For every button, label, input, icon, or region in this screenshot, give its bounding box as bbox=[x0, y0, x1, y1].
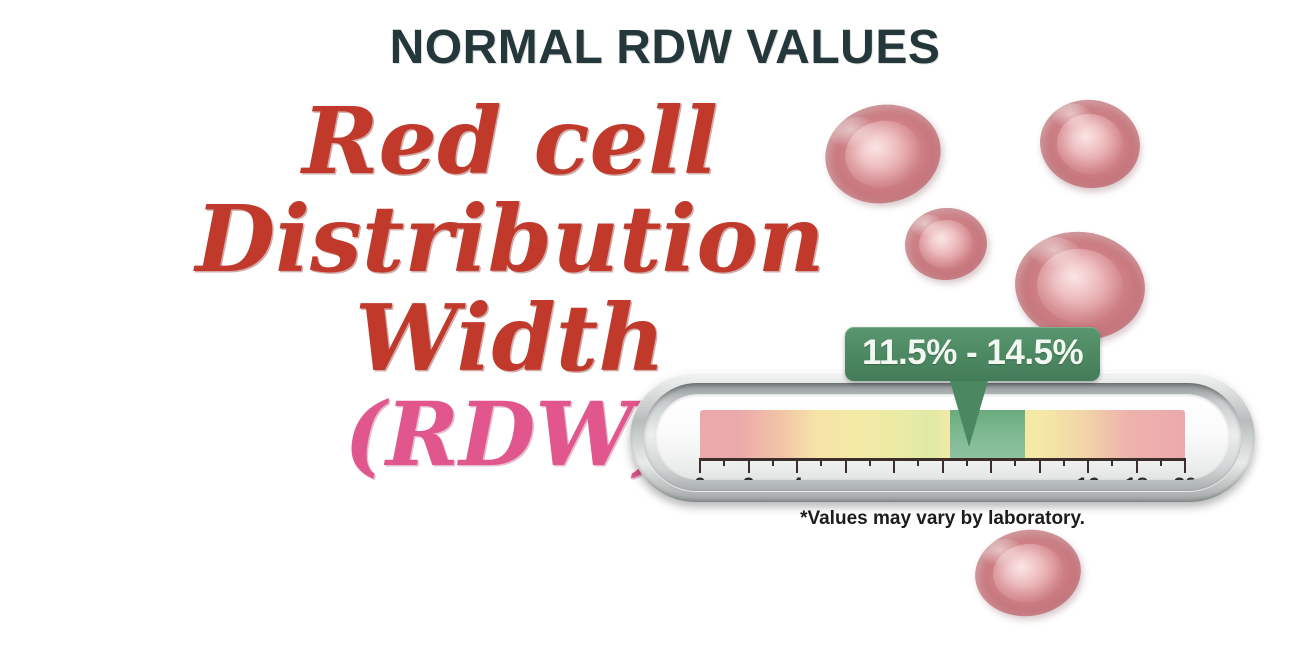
callout-pointer-icon bbox=[950, 381, 988, 447]
gauge-minor-tick bbox=[820, 458, 822, 466]
gauge-minor-tick bbox=[966, 458, 968, 466]
gauge-tick-label: 4 bbox=[791, 474, 803, 480]
gauge-major-tick bbox=[748, 458, 750, 473]
gauge-major-tick bbox=[1184, 458, 1186, 473]
gauge-minor-tick bbox=[917, 458, 919, 466]
headline-line-1: Red cell bbox=[190, 92, 830, 190]
page-title: NORMAL RDW VALUES bbox=[0, 20, 1300, 75]
gauge-tick-label: 2 bbox=[743, 474, 755, 480]
gauge-scale-area: 024161820 RDW Reference Range (%) bbox=[700, 410, 1185, 480]
gauge-major-tick bbox=[699, 458, 701, 473]
gauge-major-tick bbox=[990, 458, 992, 473]
gauge-tick-label: 20 bbox=[1173, 474, 1196, 480]
headline-line-2: Distribution bbox=[190, 190, 830, 288]
callout-body: 11.5% - 14.5% bbox=[845, 327, 1100, 381]
infographic-canvas: NORMAL RDW VALUES Red cell Distribution … bbox=[0, 0, 1300, 645]
red-blood-cell-icon bbox=[816, 94, 950, 214]
gauge-minor-tick bbox=[1014, 458, 1016, 466]
footnote-text: *Values may vary by laboratory. bbox=[630, 508, 1255, 530]
gauge-minor-tick bbox=[1063, 458, 1065, 466]
gauge-minor-tick bbox=[1160, 458, 1162, 466]
red-blood-cell-icon bbox=[902, 205, 990, 284]
callout-label: 11.5% - 14.5% bbox=[862, 333, 1083, 373]
gauge-major-tick bbox=[1087, 458, 1089, 473]
red-blood-cell-icon bbox=[1034, 93, 1145, 194]
gauge-major-tick bbox=[845, 458, 847, 473]
normal-range-callout: 11.5% - 14.5% bbox=[845, 327, 1100, 381]
gauge-tick-label: 0 bbox=[694, 474, 706, 480]
gauge-major-tick bbox=[796, 458, 798, 473]
gauge-minor-tick bbox=[723, 458, 725, 466]
rdw-gauge: 024161820 RDW Reference Range (%) bbox=[630, 372, 1255, 502]
gauge-face: 024161820 RDW Reference Range (%) bbox=[655, 394, 1230, 480]
gauge-tick-label: 16 bbox=[1076, 474, 1099, 480]
gauge-minor-tick bbox=[772, 458, 774, 466]
gauge-color-spectrum bbox=[700, 410, 1185, 458]
gauge-major-tick bbox=[1136, 458, 1138, 473]
gauge-tick-label: 18 bbox=[1125, 474, 1148, 480]
gauge-minor-tick bbox=[869, 458, 871, 466]
gauge-major-tick bbox=[893, 458, 895, 473]
red-blood-cell-icon bbox=[970, 523, 1087, 623]
gauge-major-tick bbox=[942, 458, 944, 473]
gauge-major-tick bbox=[1039, 458, 1041, 473]
gauge-minor-tick bbox=[1111, 458, 1113, 466]
